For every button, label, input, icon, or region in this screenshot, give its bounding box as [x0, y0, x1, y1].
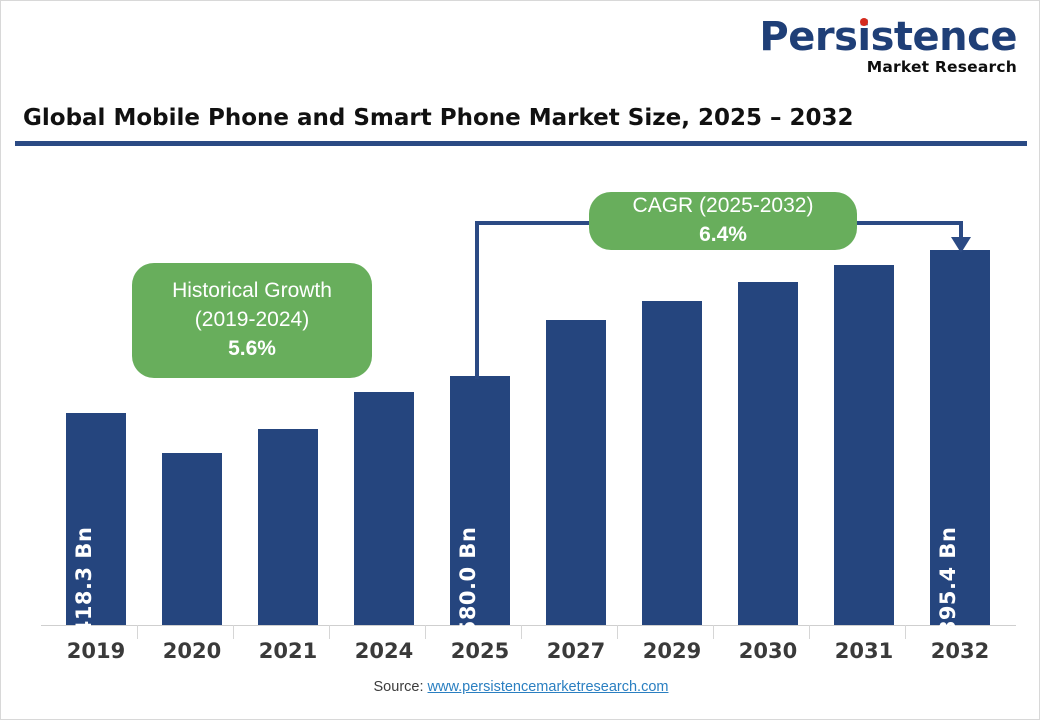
cagr-value: 6.4%: [699, 220, 747, 249]
bar-value-label-2019: US$ 418.3 Bn: [72, 527, 96, 692]
cagr-callout: CAGR (2025-2032) 6.4%: [589, 192, 857, 250]
bar-2030[interactable]: [738, 282, 798, 625]
bar-2029[interactable]: [642, 301, 702, 625]
axis-tick: [905, 625, 906, 639]
cagr-connector-horizontal-right: [841, 221, 963, 225]
bar-2024[interactable]: [354, 392, 414, 625]
axis-tick: [521, 625, 522, 639]
bar-value-label-2032: US$ 895.4 Bn: [936, 527, 960, 692]
bar-2020[interactable]: [162, 453, 222, 625]
source-link[interactable]: www.persistencemarketresearch.com: [428, 679, 669, 695]
axis-tick: [137, 625, 138, 639]
bar-value-label-2025: US$ 580.0 Bn: [456, 527, 480, 692]
cagr-title: CAGR (2025-2032): [633, 192, 814, 220]
axis-tick: [809, 625, 810, 639]
axis-tick: [329, 625, 330, 639]
cagr-connector-vertical-left: [475, 221, 479, 379]
x-axis-label-2027: 2027: [536, 639, 616, 663]
x-axis-label-2024: 2024: [344, 639, 424, 663]
arrow-head-icon: [951, 237, 971, 253]
x-axis-line: [41, 625, 1016, 626]
x-axis-label-2025: 2025: [440, 639, 520, 663]
historical-growth-title: Historical Growth: [172, 277, 332, 305]
source-line: Source: www.persistencemarketresearch.co…: [1, 679, 1040, 695]
bar-2025[interactable]: US$ 580.0 Bn: [450, 376, 510, 625]
axis-tick: [425, 625, 426, 639]
cagr-connector-horizontal-left: [475, 221, 605, 225]
axis-tick: [233, 625, 234, 639]
x-axis-label-2020: 2020: [152, 639, 232, 663]
source-prefix: Source:: [374, 679, 428, 695]
x-axis-label-2031: 2031: [824, 639, 904, 663]
x-axis-label-2030: 2030: [728, 639, 808, 663]
x-axis-label-2029: 2029: [632, 639, 712, 663]
bar-2021[interactable]: [258, 429, 318, 625]
chart-page: Persistence Market Research Global Mobil…: [0, 0, 1040, 720]
axis-tick: [617, 625, 618, 639]
axis-tick: [713, 625, 714, 639]
bar-2032[interactable]: US$ 895.4 Bn: [930, 250, 990, 625]
bar-chart-plot: US$ 418.3 Bn US$ 580.0 Bn US$ 895.4 Bn 2…: [1, 1, 1040, 720]
historical-growth-callout: Historical Growth (2019-2024) 5.6%: [132, 263, 372, 378]
bar-2027[interactable]: [546, 320, 606, 625]
x-axis-label-2032: 2032: [920, 639, 1000, 663]
x-axis-label-2019: 2019: [56, 639, 136, 663]
x-axis-label-2021: 2021: [248, 639, 328, 663]
bar-2031[interactable]: [834, 265, 894, 625]
historical-growth-value: 5.6%: [228, 334, 276, 363]
bar-2019[interactable]: US$ 418.3 Bn: [66, 413, 126, 625]
historical-growth-period: (2019-2024): [195, 306, 309, 334]
